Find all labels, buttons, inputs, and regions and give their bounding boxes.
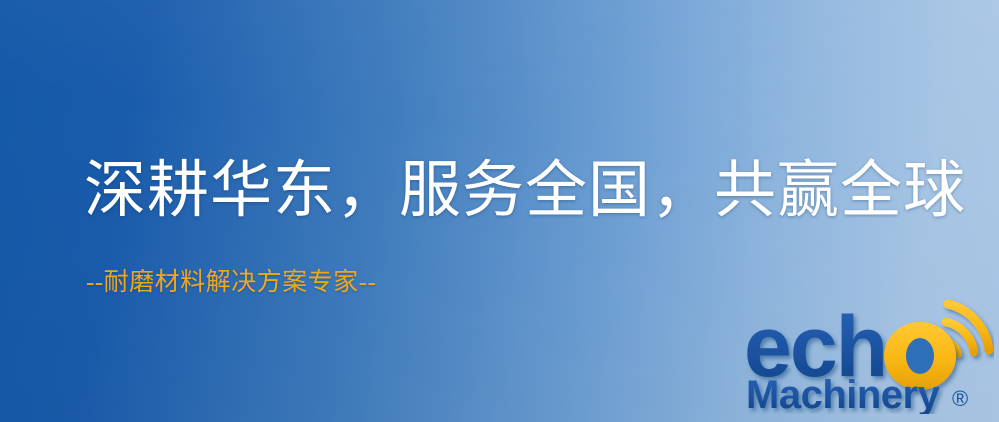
logo-trademark-symbol: ® — [952, 386, 968, 411]
page-title: 深耕华东，服务全国，共赢全球 — [84, 157, 966, 225]
company-logo[interactable]: ech Machinery ® — [744, 296, 994, 414]
hero-banner: 深耕华东，服务全国，共赢全球 --耐磨材料解决方案专家-- — [0, 0, 999, 422]
logo-tagline-machinery: Machinery — [746, 373, 941, 414]
page-subtitle: --耐磨材料解决方案专家-- — [86, 268, 376, 297]
